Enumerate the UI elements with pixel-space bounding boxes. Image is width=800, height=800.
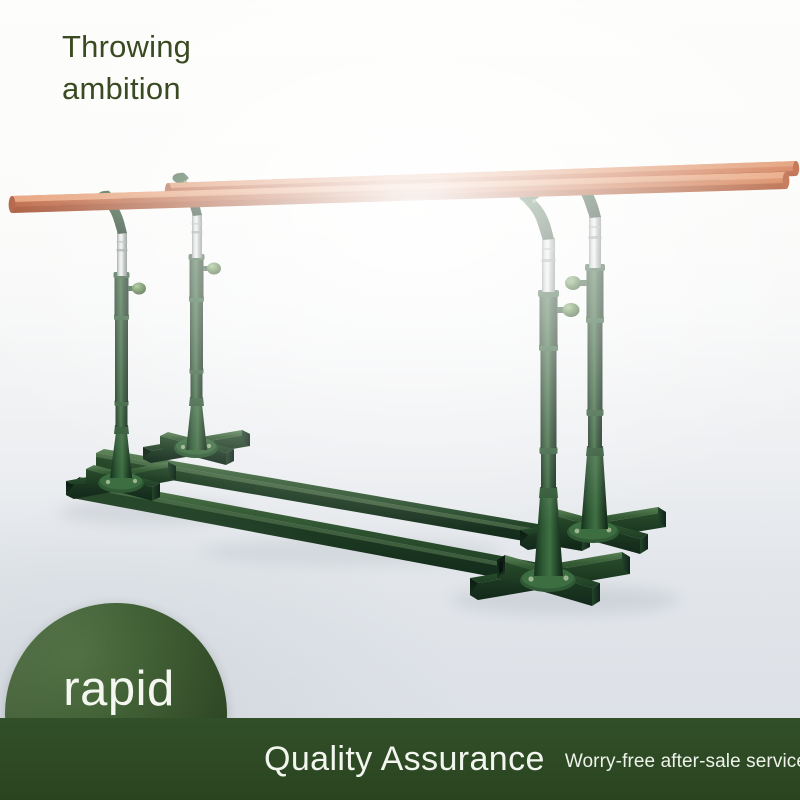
height-adjust-knob <box>565 276 587 290</box>
upright-left-front <box>98 191 147 478</box>
height-adjust-knob <box>557 303 580 317</box>
product-image-canvas: Throwing ambition rapid Ship Quality Ass… <box>0 0 800 800</box>
upright-right-rear <box>565 172 608 530</box>
height-adjust-knob <box>128 283 146 295</box>
height-adjust-knob <box>203 263 221 275</box>
headline-text: Throwing ambition <box>62 26 191 109</box>
quality-assurance-text: Quality Assurance <box>264 740 545 779</box>
badge-line-1: rapid <box>63 662 174 718</box>
bottom-banner-content: Quality Assurance Worry-free after-sale … <box>0 718 800 800</box>
after-sale-service-text: Worry-free after-sale service <box>565 751 800 773</box>
upright-left-rear <box>173 173 222 450</box>
